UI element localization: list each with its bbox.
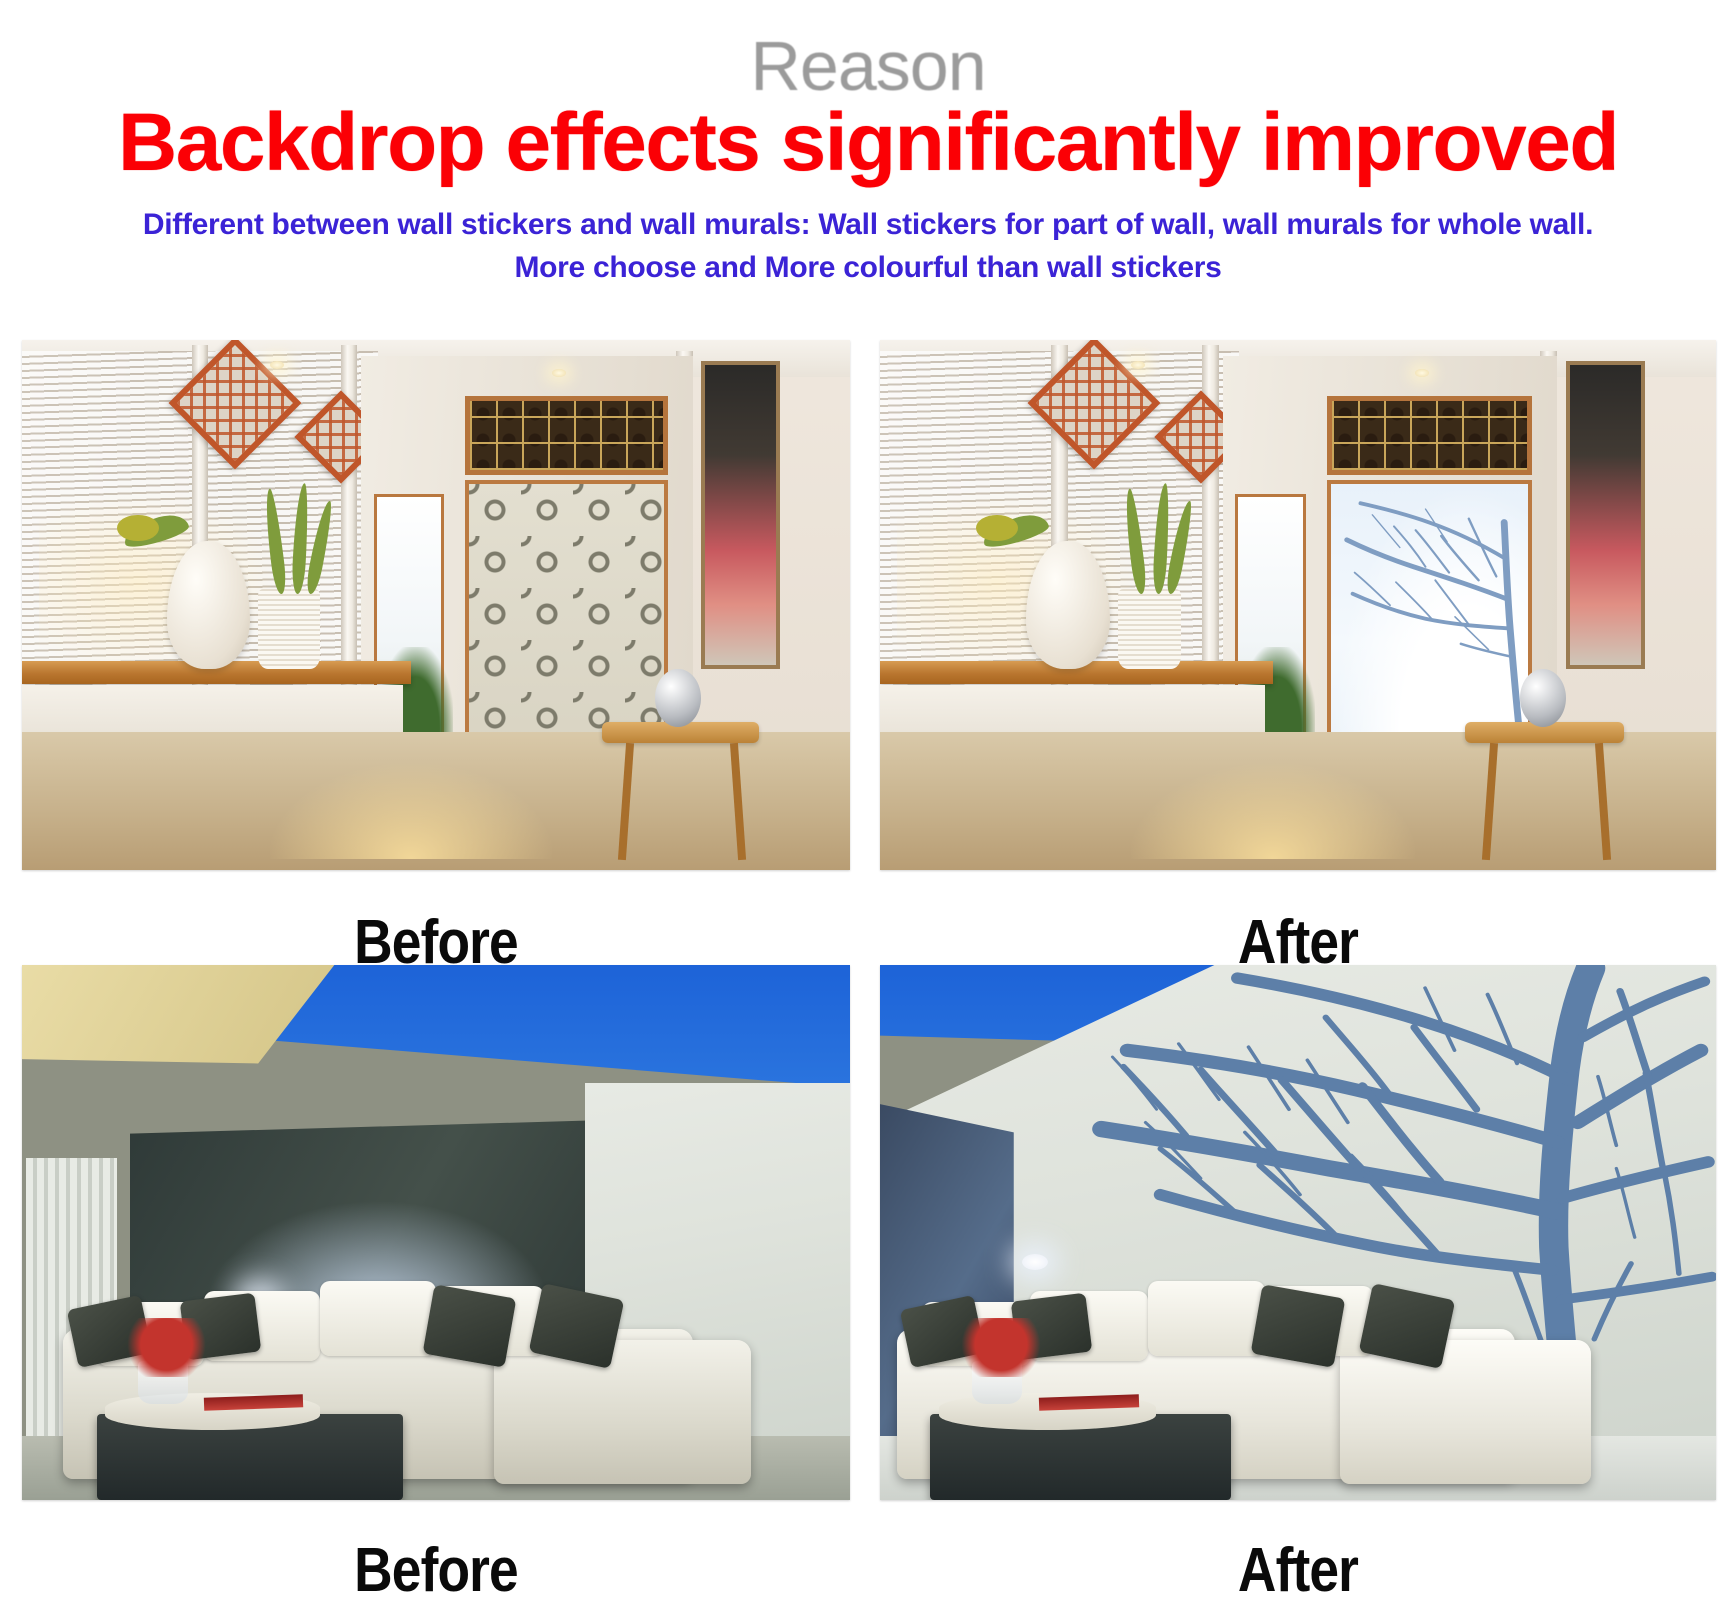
vase-stem-leaf: [976, 515, 1018, 542]
page-title: Backdrop effects significantly improved: [0, 100, 1736, 186]
page-header: Reason Backdrop effects significantly im…: [0, 0, 1736, 288]
floor-light-pool: [1131, 764, 1415, 859]
comparison-cell-hallway-after: After: [880, 340, 1716, 974]
dark-throw-pillow: [422, 1285, 516, 1368]
comparison-cell-living-before: Before: [22, 965, 850, 1602]
caption-living-after: After: [939, 1540, 1658, 1602]
comparison-row-hallway: Before: [0, 340, 1736, 965]
floor-light-pool: [270, 764, 552, 859]
silver-ornament: [655, 669, 701, 727]
ceiling-spotlight: [1022, 1254, 1048, 1270]
caption-living-before: Before: [80, 1540, 792, 1602]
ribbed-plant-pot: [258, 589, 320, 669]
eyebrow-label: Reason: [0, 28, 1736, 104]
comparison-cell-living-after: After: [880, 965, 1716, 1602]
before-after-grid: Before: [0, 340, 1736, 1600]
decorative-transom-grille: [465, 396, 668, 476]
comparison-row-living-room: Before: [0, 965, 1736, 1600]
vase-stem-leaf: [117, 515, 158, 542]
dark-throw-pillow: [1251, 1285, 1345, 1368]
photo-living-before[interactable]: [22, 965, 850, 1500]
subtitle-line-2: More choose and More colourful than wall…: [0, 247, 1736, 288]
sofa-cushion: [320, 1281, 436, 1356]
ribbed-plant-pot: [1118, 589, 1181, 669]
framed-picture-image: [705, 365, 776, 664]
framed-picture-image: [1570, 365, 1641, 664]
sectional-sofa-return: [494, 1340, 751, 1484]
photo-living-after[interactable]: [880, 965, 1716, 1500]
comparison-cell-hallway-before: Before: [22, 340, 850, 974]
sectional-sofa-return: [1340, 1340, 1591, 1484]
photo-hallway-after[interactable]: [880, 340, 1716, 870]
framed-wall-picture: [1566, 361, 1645, 668]
subtitle-line-1: Different between wall stickers and wall…: [0, 204, 1736, 245]
photo-hallway-before[interactable]: [22, 340, 850, 870]
decorative-transom-grille: [1327, 396, 1532, 476]
red-flower-arrangement: [121, 1318, 212, 1377]
framed-wall-picture: [701, 361, 780, 668]
sofa-cushion: [1148, 1281, 1265, 1356]
red-flower-arrangement: [955, 1318, 1047, 1377]
silver-ornament: [1520, 669, 1566, 727]
